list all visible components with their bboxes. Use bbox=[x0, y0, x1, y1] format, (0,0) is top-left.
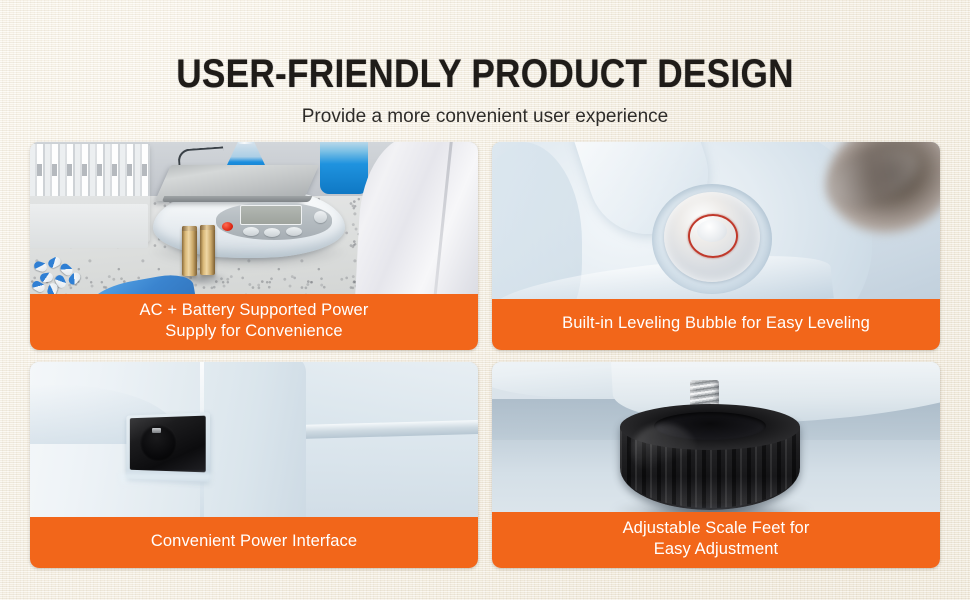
power-button-red bbox=[222, 222, 233, 231]
balance-pan-edge bbox=[162, 196, 313, 202]
caption-line-1: Built-in Leveling Bubble for Easy Leveli… bbox=[562, 313, 870, 334]
caption-line-2: Easy Adjustment bbox=[654, 540, 778, 558]
aa-battery-1 bbox=[182, 226, 197, 276]
balance-button-4 bbox=[314, 211, 327, 223]
caption-line-2: Supply for Convenience bbox=[165, 322, 342, 340]
feature-grid: AC + Battery Supported Power Supply for … bbox=[30, 142, 940, 568]
balance-lcd-display bbox=[240, 205, 302, 225]
aa-battery-1-terminal bbox=[182, 226, 197, 231]
feature-caption-power-supply: AC + Battery Supported Power Supply for … bbox=[30, 294, 478, 350]
rack-holes bbox=[30, 164, 150, 176]
spirit-level-bubble bbox=[697, 220, 727, 242]
beaker-blue-liquid bbox=[320, 142, 368, 194]
power-socket-pin bbox=[152, 428, 161, 433]
capsule-pills bbox=[32, 258, 92, 294]
feature-card-leveling-bubble[interactable]: Built-in Leveling Bubble for Easy Leveli… bbox=[492, 142, 940, 350]
balance-button-1 bbox=[243, 227, 259, 236]
caption-line-1: Convenient Power Interface bbox=[151, 531, 357, 552]
product-feature-banner: USER-FRIENDLY PRODUCT DESIGN Provide a m… bbox=[0, 0, 970, 600]
port-bottom-glow bbox=[120, 474, 212, 486]
caption-line-1: Adjustable Scale Feet for bbox=[623, 519, 810, 537]
test-tube-rack-lower bbox=[30, 204, 148, 248]
page-title: USER-FRIENDLY PRODUCT DESIGN bbox=[58, 52, 912, 96]
feature-caption-leveling-bubble: Built-in Leveling Bubble for Easy Leveli… bbox=[492, 299, 940, 350]
feature-caption-power-interface: Convenient Power Interface bbox=[30, 517, 478, 568]
feature-card-power-interface[interactable]: Convenient Power Interface bbox=[30, 362, 478, 568]
balance-button-3 bbox=[286, 227, 302, 236]
flask-neck bbox=[238, 142, 254, 144]
banner-header: USER-FRIENDLY PRODUCT DESIGN Provide a m… bbox=[0, 0, 970, 128]
aa-battery-2-terminal bbox=[200, 225, 215, 230]
balance-button-2 bbox=[264, 228, 280, 237]
aa-battery-2 bbox=[200, 225, 215, 275]
feature-card-adjustable-feet[interactable]: Adjustable Scale Feet for Easy Adjustmen… bbox=[492, 362, 940, 568]
feature-caption-adjustable-feet: Adjustable Scale Feet for Easy Adjustmen… bbox=[492, 512, 940, 568]
knob-highlight bbox=[632, 424, 696, 476]
caption-line-1: AC + Battery Supported Power bbox=[140, 301, 369, 319]
page-subtitle: Provide a more convenient user experienc… bbox=[0, 105, 970, 128]
feature-card-power-supply[interactable]: AC + Battery Supported Power Supply for … bbox=[30, 142, 478, 350]
